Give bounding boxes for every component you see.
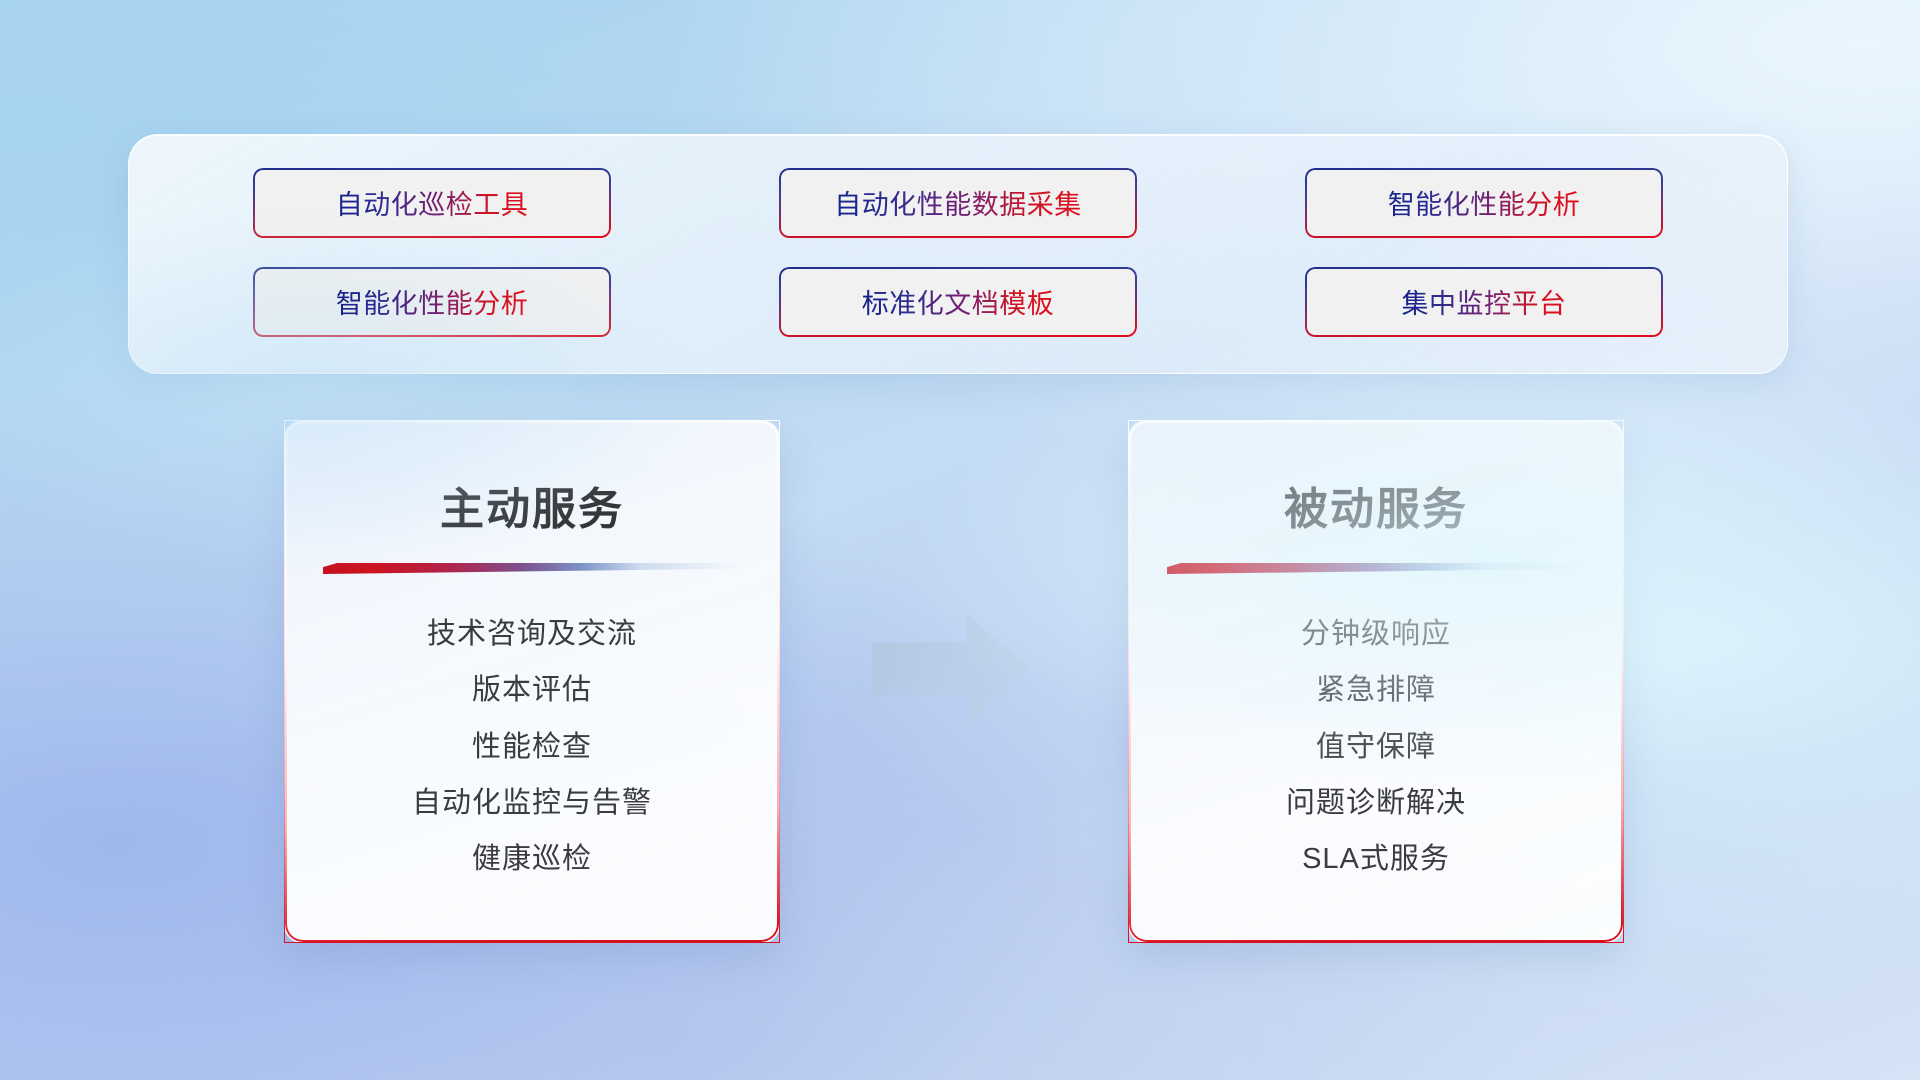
card-divider-active (323, 563, 741, 574)
capability-pill-label: 智能化性能分析 (336, 282, 529, 321)
service-card-passive[interactable]: 被动服务 分钟级响应 紧急排障 值守保障 问题诊断解决 SLA式服务 (1128, 420, 1624, 943)
service-item: 版本评估 (319, 673, 745, 708)
service-item: 健康巡检 (319, 842, 745, 877)
service-item: 紧急排障 (1163, 673, 1589, 708)
service-card-active-body: 主动服务 技术咨询及交流 版本评估 性能检查 自动化监控与告警 健康巡检 (285, 421, 779, 942)
service-item: SLA式服务 (1163, 842, 1589, 877)
capability-pill-4[interactable]: 智能化性能分析 (253, 267, 611, 337)
service-item: 分钟级响应 (1163, 617, 1589, 652)
capability-pill-2[interactable]: 自动化性能数据采集 (779, 168, 1137, 238)
service-card-passive-title: 被动服务 (1163, 473, 1589, 537)
capability-pill-label: 自动化性能数据采集 (834, 183, 1082, 222)
service-card-active[interactable]: 主动服务 技术咨询及交流 版本评估 性能检查 自动化监控与告警 健康巡检 (284, 420, 780, 943)
capability-pill-label: 集中监控平台 (1402, 282, 1567, 321)
service-card-passive-body: 被动服务 分钟级响应 紧急排障 值守保障 问题诊断解决 SLA式服务 (1129, 421, 1623, 942)
capability-pill-label: 智能化性能分析 (1388, 183, 1581, 222)
capability-pill-label: 标准化文档模板 (862, 282, 1055, 321)
capabilities-panel: 自动化巡检工具 自动化性能数据采集 智能化性能分析 智能化性能分析 标准化文档模… (128, 134, 1788, 374)
service-item: 问题诊断解决 (1163, 786, 1589, 821)
service-item-list-active: 技术咨询及交流 版本评估 性能检查 自动化监控与告警 健康巡检 (319, 586, 745, 916)
service-item: 性能检查 (319, 730, 745, 765)
service-item: 值守保障 (1163, 730, 1589, 765)
card-divider-passive (1167, 563, 1585, 574)
arrow-right-icon (872, 614, 1030, 724)
capability-pill-5[interactable]: 标准化文档模板 (779, 267, 1137, 337)
capability-pill-label: 自动化巡检工具 (336, 183, 529, 222)
service-card-active-title: 主动服务 (319, 473, 745, 537)
service-item-list-passive: 分钟级响应 紧急排障 值守保障 问题诊断解决 SLA式服务 (1163, 586, 1589, 916)
capability-pill-3[interactable]: 智能化性能分析 (1305, 168, 1663, 238)
slide-canvas: 自动化巡检工具 自动化性能数据采集 智能化性能分析 智能化性能分析 标准化文档模… (0, 0, 1920, 1080)
capability-pill-1[interactable]: 自动化巡检工具 (253, 168, 611, 238)
service-item: 自动化监控与告警 (319, 786, 745, 821)
service-item: 技术咨询及交流 (319, 617, 745, 652)
capability-pill-6[interactable]: 集中监控平台 (1305, 267, 1663, 337)
